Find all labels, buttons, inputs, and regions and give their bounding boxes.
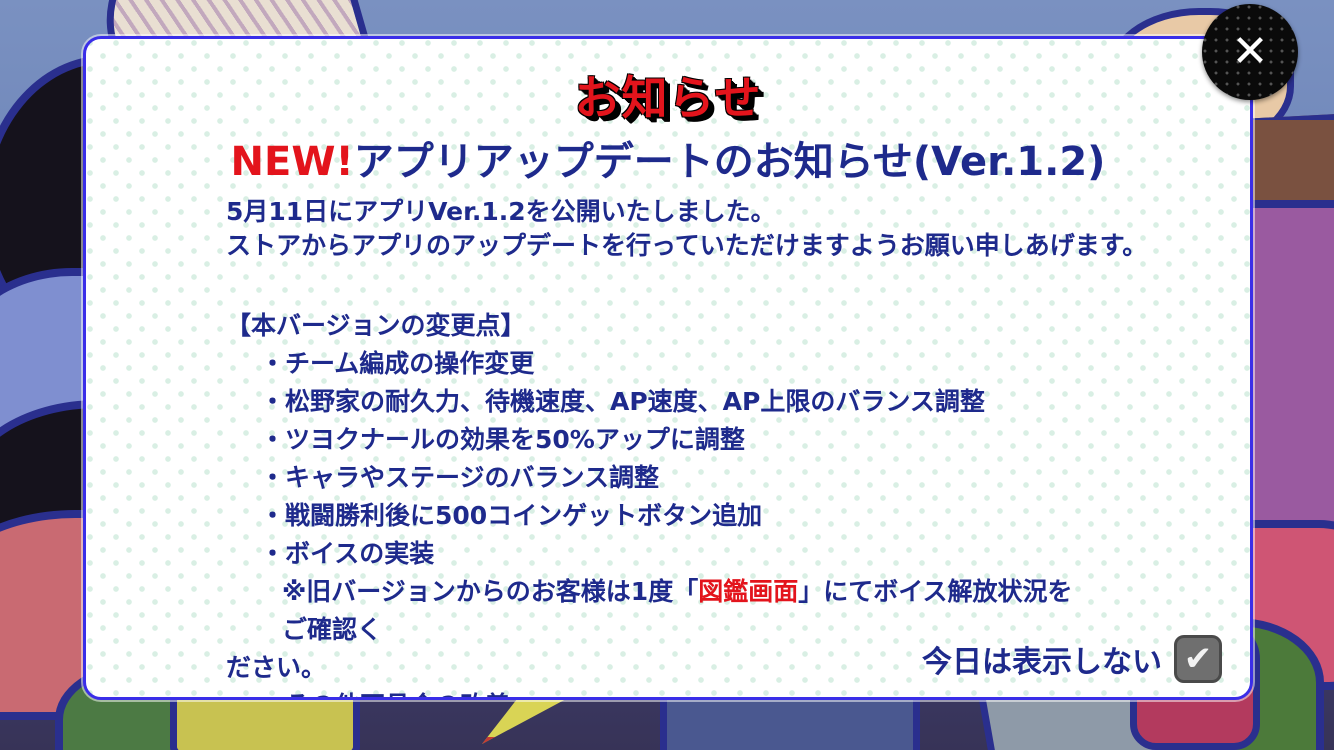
section-heading: 【本バージョンの変更点】 [226,307,1096,345]
dont-show-today-checkbox[interactable]: ✔ [1174,635,1222,683]
notice-dialog: お知らせ NEW!アプリアップデートのお知らせ(Ver.1.2) 5月11日にア… [83,36,1253,700]
headline-new-tag: NEW! [231,139,354,185]
voice-note-highlight: 図鑑画面 [698,577,798,606]
intro-line-2: ストアからアプリのアップデートを行っていただけますようお願い申しあげます。 [226,229,1250,263]
headline-text: アプリアップデートのお知らせ(Ver.1.2) [354,139,1106,185]
intro-block: 5月11日にアプリVer.1.2を公開いたしました。 ストアからアプリのアップデ… [226,195,1250,263]
change-item: ・チーム編成の操作変更 [226,345,1096,383]
dont-show-today-row[interactable]: 今日は表示しない ✔ [922,635,1222,683]
close-icon: ✕ [1202,4,1298,100]
voice-note-prefix: ※旧バージョンからのお客様は1度「 [282,577,698,606]
game-screen: ✕ お知らせ NEW!アプリアップデートのお知らせ(Ver.1.2) 5月11日… [0,0,1334,750]
intro-line-1: 5月11日にアプリVer.1.2を公開いたしました。 [226,195,1250,229]
dont-show-today-label: 今日は表示しない [922,637,1162,681]
check-icon: ✔ [1184,642,1213,676]
change-item: ・ツヨクナールの効果を50%アップに調整 [226,421,1096,459]
change-item: ・キャラやステージのバランス調整 [226,459,1096,497]
change-item: ・戦闘勝利後に500コインゲットボタン追加 [226,497,1096,535]
banner-title: お知らせ [574,75,761,121]
change-item: ・ボイスの実装 [226,535,1096,573]
change-item: ・その他不具合の改善 [226,687,1096,701]
change-item: ・松野家の耐久力、待機速度、AP速度、AP上限のバランス調整 [226,383,1096,421]
close-button[interactable]: ✕ [1202,4,1298,100]
headline: NEW!アプリアップデートのお知らせ(Ver.1.2) [86,139,1250,185]
banner: お知らせ [86,75,1250,131]
